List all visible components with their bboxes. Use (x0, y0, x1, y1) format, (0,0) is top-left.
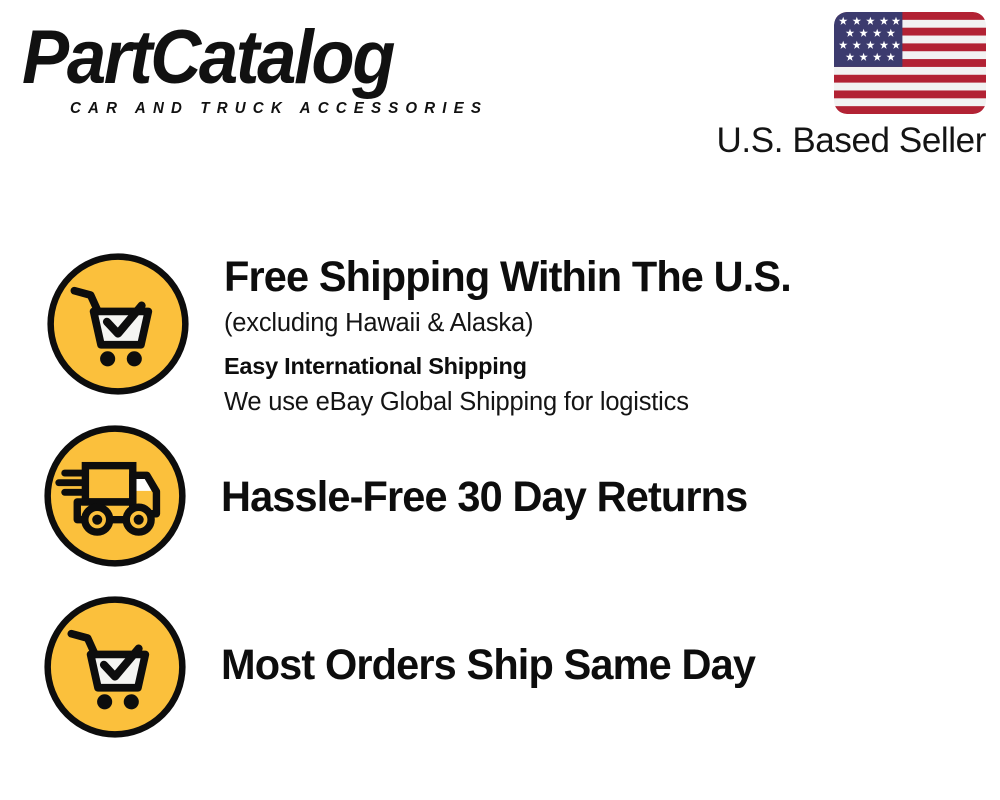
feature-text-block: Free Shipping Within The U.S. (excluding… (224, 250, 1000, 419)
feature-title: Most Orders Ship Same Day (221, 640, 973, 690)
us-based-seller-label: U.S. Based Seller (686, 120, 986, 162)
us-based-seller-badge: U.S. Based Seller (686, 12, 986, 162)
feature-title: Hassle-Free 30 Day Returns (221, 472, 973, 522)
feature-text-block: Hassle-Free 30 Day Returns (221, 470, 1000, 522)
feature-detail: We use eBay Global Shipping for logistic… (224, 385, 1000, 419)
feature-title: Free Shipping Within The U.S. (224, 252, 973, 302)
feature-subtitle: Easy International Shipping (224, 351, 1000, 381)
delivery-truck-icon (41, 422, 189, 570)
logo-tagline: CAR AND TRUCK ACCESSORIES (70, 100, 488, 118)
page-header: PartCatalog CAR AND TRUCK ACCESSORIES (0, 0, 1000, 175)
feature-item: Most Orders Ship Same Day (0, 593, 1000, 743)
logo-wordmark: PartCatalog (22, 18, 459, 98)
shopping-cart-check-icon (44, 250, 192, 398)
feature-item: Hassle-Free 30 Day Returns (0, 422, 1000, 572)
us-flag-icon (834, 12, 986, 114)
feature-note: (excluding Hawaii & Alaska) (224, 306, 1000, 340)
shopping-cart-check-icon (41, 593, 189, 741)
feature-text-block: Most Orders Ship Same Day (221, 638, 1000, 690)
partcatalog-logo: PartCatalog CAR AND TRUCK ACCESSORIES (22, 18, 492, 118)
feature-item: Free Shipping Within The U.S. (excluding… (0, 250, 1000, 415)
